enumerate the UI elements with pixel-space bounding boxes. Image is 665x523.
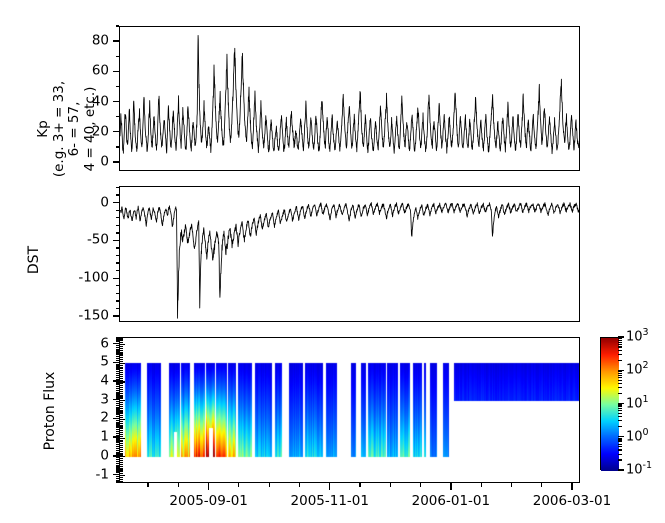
y-minor-tick [116,349,120,350]
inner-tick [120,417,123,418]
y-minor-tick [116,367,120,368]
y-tick-label: 6 [41,337,109,351]
inner-tick [120,421,123,422]
y-minor-tick [116,422,120,423]
inner-tick [120,381,125,382]
y-minor-tick [116,392,120,393]
colorbar-minor-tick [618,360,622,361]
y-minor-tick [116,194,120,195]
inner-tick [120,363,125,364]
x-major-tick [329,483,330,490]
y-minor-tick [116,461,120,462]
inner-tick [120,350,123,351]
inner-tick [120,432,123,433]
x-major-tick [208,483,209,490]
y-minor-tick [116,247,120,248]
figure-root: 020406080 Kp(e.g. 3+ = 33,6- = 57,4 = 40… [0,0,665,523]
y-minor-tick [116,262,120,263]
x-minor-tick [481,483,482,487]
y-minor-tick [116,352,120,353]
inner-tick [120,352,123,353]
y-major-tick [113,240,119,241]
colorbar-minor-tick [618,377,622,378]
inner-tick [120,411,123,412]
colorbar-minor-tick [618,338,622,339]
y-minor-tick [116,412,120,413]
y-major-tick [113,278,119,279]
y-minor-tick [116,442,120,443]
colorbar-minor-tick [618,410,622,411]
y-minor-tick [116,408,120,409]
y-minor-tick [116,401,120,402]
x-minor-tick [178,483,179,487]
inner-tick [120,365,123,366]
panel-proton-flux [119,337,580,483]
y-minor-tick [116,476,120,477]
inner-tick [120,436,123,437]
inner-tick [120,376,123,377]
inner-tick [120,441,123,442]
y-minor-tick [116,440,120,441]
y-minor-tick [116,395,120,396]
inner-tick [120,357,123,358]
y-tick-label: 80 [41,34,109,48]
inner-tick [120,477,123,478]
inner-tick [120,456,125,457]
y-major-tick [113,161,119,162]
colorbar-minor-tick [618,340,622,341]
inner-tick [120,453,123,454]
y-minor-tick [116,403,120,404]
y-minor-tick [116,371,120,372]
y-minor-tick [116,427,120,428]
inner-tick [120,383,123,384]
colorbar-tick-label: 103 [626,330,649,345]
y-minor-tick [116,187,120,188]
inner-tick [120,389,123,390]
y-major-tick [113,315,119,316]
y-tick-label: -1 [41,468,109,482]
dst-timeseries-plot [120,187,579,321]
y-minor-tick [116,369,120,370]
colorbar-tick-label: 101 [626,396,649,411]
y-minor-tick [116,446,120,447]
colorbar-minor-tick [618,416,622,417]
colorbar-minor-tick [618,380,622,381]
y-minor-tick [116,450,120,451]
y-minor-tick [116,337,120,338]
kp-axis-title-line-0: Kp [36,54,52,204]
inner-tick [120,445,123,446]
inner-tick [120,391,123,392]
inner-tick [120,368,123,369]
y-minor-tick [116,459,120,460]
y-minor-tick [116,364,120,365]
y-major-tick [113,131,119,132]
inner-tick [120,471,123,472]
inner-tick [120,458,123,459]
inner-tick [120,443,123,444]
inner-tick [120,406,123,407]
y-tick-label: -150 [41,309,109,323]
kp-timeseries-plot [120,27,579,170]
y-tick-label: 0 [41,196,109,210]
inner-tick [120,481,123,482]
inner-tick [120,426,123,427]
inner-tick [120,428,123,429]
inner-tick [120,380,123,381]
inner-tick [120,359,123,360]
colorbar-label-mantissa: 10 [626,463,643,478]
inner-tick [120,440,123,441]
colorbar-label-mantissa: 10 [626,429,643,444]
inner-tick [120,462,123,463]
y-major-tick [113,362,119,363]
inner-tick [120,460,123,461]
y-minor-tick [116,308,120,309]
y-minor-tick [116,433,120,434]
inner-tick [120,434,123,435]
colorbar-minor-tick [618,406,622,407]
colorbar-minor-tick [618,350,622,351]
inner-tick [120,340,123,341]
y-minor-tick [116,356,120,357]
colorbar-label-exponent: 1 [643,394,649,405]
x-minor-tick [147,483,148,487]
inner-tick [120,402,123,403]
x-minor-tick [541,483,542,487]
colorbar-minor-tick [618,441,622,442]
y-minor-tick [116,390,120,391]
y-minor-tick [116,429,120,430]
inner-tick [120,415,123,416]
inner-tick [120,473,123,474]
y-minor-tick [116,358,120,359]
y-minor-tick [116,425,120,426]
colorbar-tick-label: 100 [626,429,649,444]
y-minor-tick [116,377,120,378]
x-minor-tick [359,483,360,487]
colorbar-label-mantissa: 10 [626,363,643,378]
inner-tick [120,466,123,467]
proton-flux-axis-title: Proton Flux [42,356,58,466]
y-minor-tick [116,339,120,340]
panel-dst [119,186,580,322]
y-minor-tick [116,407,120,408]
y-major-tick [113,202,119,203]
x-major-tick [571,483,572,490]
colorbar-minor-tick [618,413,622,414]
y-minor-tick [116,373,120,374]
inner-tick [120,425,123,426]
colorbar-minor-tick [618,387,622,388]
colorbar-minor-tick [618,354,622,355]
colorbar-minor-tick [618,342,622,343]
inner-tick [120,419,125,420]
inner-tick [120,342,123,343]
y-major-tick [113,101,119,102]
y-minor-tick [116,255,120,256]
x-tick-label: 2005-09-01 [169,494,247,508]
y-minor-tick [116,293,120,294]
kp-axis-title: Kp(e.g. 3+ = 33,6- = 57,4 = 40, etc.) [36,54,98,204]
y-major-tick [113,418,119,419]
y-minor-tick [116,478,120,479]
y-major-tick [113,380,119,381]
y-minor-tick [116,420,120,421]
y-minor-tick [116,350,120,351]
y-minor-tick [116,382,120,383]
inner-tick [120,367,123,368]
dst-axis-title: DST [26,230,42,290]
y-minor-tick [116,25,120,26]
y-minor-tick [116,345,120,346]
y-minor-tick [116,354,120,355]
y-minor-tick [116,217,120,218]
kp-axis-title-line-3: 4 = 40, etc.) [83,54,99,204]
x-tick-label: 2005-11-01 [291,494,369,508]
inner-tick [120,430,123,431]
inner-tick [120,396,123,397]
y-minor-tick [116,384,120,385]
y-minor-tick [116,146,120,147]
inner-tick [120,353,123,354]
inner-tick [120,344,125,345]
y-minor-tick [116,452,120,453]
colorbar-label-exponent: -1 [643,460,652,471]
y-minor-tick [116,431,120,432]
x-tick-label: 2006-01-01 [412,494,490,508]
inner-tick [120,338,123,339]
inner-tick [120,385,123,386]
colorbar-minor-tick [618,408,622,409]
kp-axis-title-line-2: 6- = 57, [67,54,83,204]
colorbar-gradient [601,338,619,471]
y-minor-tick [116,444,120,445]
inner-tick [120,469,123,470]
y-minor-tick [116,465,120,466]
colorbar-minor-tick [618,438,622,439]
y-major-tick [113,71,119,72]
y-tick-label: -50 [41,234,109,248]
y-minor-tick [116,56,120,57]
y-minor-tick [116,414,120,415]
proton-flux-spectrogram [120,338,580,483]
colorbar-minor-tick [618,420,622,421]
y-major-tick [113,399,119,400]
colorbar-minor-tick [618,393,622,394]
x-minor-tick [390,483,391,487]
colorbar-label-exponent: 3 [643,327,649,338]
colorbar-tick-label: 10-1 [626,463,652,478]
inner-tick [120,395,123,396]
inner-tick [120,423,123,424]
colorbar-major-tick [618,436,624,437]
y-minor-tick [116,457,120,458]
y-major-tick [113,474,119,475]
inner-tick [120,355,123,356]
colorbar-tick-label: 102 [626,363,649,378]
y-minor-tick [116,347,120,348]
inner-tick [120,454,123,455]
inner-tick [120,372,123,373]
y-minor-tick [116,468,120,469]
x-minor-tick [511,483,512,487]
y-minor-tick [116,285,120,286]
y-major-tick [113,40,119,41]
inner-tick [120,400,125,401]
y-minor-tick [116,116,120,117]
inner-tick [120,404,123,405]
inner-tick [120,475,125,476]
colorbar-minor-tick [618,439,622,440]
colorbar-minor-tick [618,344,622,345]
inner-tick [120,374,123,375]
inner-tick [120,378,123,379]
y-minor-tick [116,375,120,376]
y-tick-label: -100 [41,271,109,285]
colorbar-minor-tick [618,426,622,427]
x-minor-tick [299,483,300,487]
y-minor-tick [116,86,120,87]
colorbar-minor-tick [618,444,622,445]
colorbar-minor-tick [618,383,622,384]
y-minor-tick [116,481,120,482]
y-major-tick [113,455,119,456]
inner-tick [120,348,123,349]
y-minor-tick [116,232,120,233]
y-minor-tick [116,210,120,211]
y-minor-tick [116,463,120,464]
colorbar-label-mantissa: 10 [626,330,643,345]
colorbar-minor-tick [618,375,622,376]
colorbar-major-tick [618,469,624,470]
x-minor-tick [420,483,421,487]
inner-tick [120,370,123,371]
y-minor-tick [116,448,120,449]
colorbar-label-exponent: 2 [643,360,649,371]
colorbar-minor-tick [618,346,622,347]
colorbar [600,337,618,470]
colorbar-major-tick [618,403,624,404]
colorbar-major-tick [618,336,624,337]
y-minor-tick [116,270,120,271]
colorbar-label-mantissa: 10 [626,396,643,411]
inner-tick [120,413,123,414]
inner-tick [120,346,123,347]
inner-tick [120,449,123,450]
y-minor-tick [116,466,120,467]
y-major-tick [113,436,119,437]
y-minor-tick [116,393,120,394]
colorbar-minor-tick [618,446,622,447]
y-minor-tick [116,423,120,424]
x-tick-label: 2006-03-01 [533,494,611,508]
colorbar-minor-tick [618,454,622,455]
inner-tick [120,447,123,448]
colorbar-label-exponent: 0 [643,427,649,438]
series-path [120,35,579,153]
y-minor-tick [116,410,120,411]
kp-axis-title-line-1: (e.g. 3+ = 33, [52,54,68,204]
inner-tick [120,387,123,388]
y-minor-tick [116,438,120,439]
panel-kp [119,26,580,171]
inner-tick [120,468,123,469]
y-minor-tick [116,480,120,481]
inner-tick [120,464,123,465]
x-minor-tick [269,483,270,487]
inner-tick [120,410,123,411]
colorbar-major-tick [618,370,624,371]
series-path [120,203,579,319]
y-minor-tick [116,386,120,387]
y-minor-tick [116,470,120,471]
colorbar-minor-tick [618,404,622,405]
y-minor-tick [116,388,120,389]
inner-tick [120,408,123,409]
y-minor-tick [116,365,120,366]
y-major-tick [113,343,119,344]
colorbar-minor-tick [618,371,622,372]
x-major-tick [450,483,451,490]
y-minor-tick [116,405,120,406]
x-minor-tick [238,483,239,487]
inner-tick [120,393,123,394]
colorbar-minor-tick [618,449,622,450]
inner-tick [120,451,123,452]
inner-tick [120,361,123,362]
inner-tick [120,438,125,439]
colorbar-minor-tick [618,373,622,374]
inner-tick [120,479,123,480]
colorbar-minor-tick [618,459,622,460]
y-minor-tick [116,225,120,226]
inner-tick [120,398,123,399]
y-minor-tick [116,300,120,301]
